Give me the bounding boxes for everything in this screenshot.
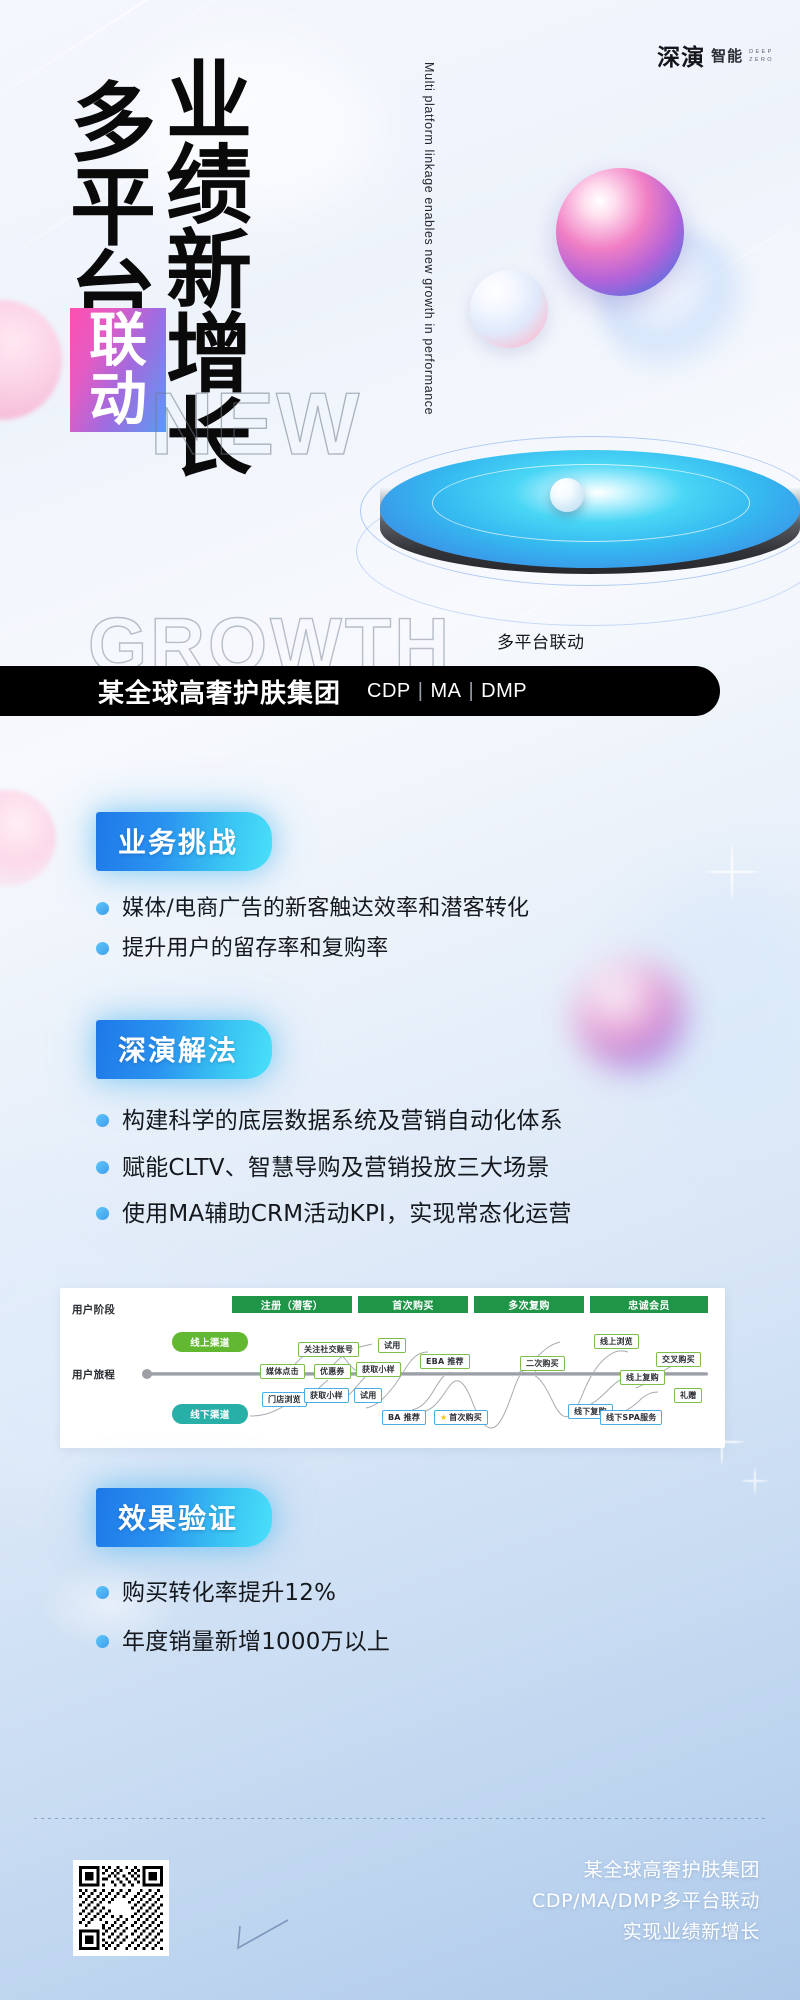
bullet-list-1: 媒体/电商广告的新客触达效率和潜客转化 提升用户的留存率和复购率	[96, 893, 529, 964]
headline-char-ping: 平	[70, 166, 156, 250]
section-heading-text-1: 业务挑战	[118, 826, 238, 859]
section-results: 效果验证 购买转化率提升12% 年度销量新增1000万以上	[96, 1488, 390, 1667]
section-heading-badge-1: 业务挑战	[96, 812, 272, 871]
bullet-text: 使用MA辅助CRM活动KPI，实现常态化运营	[122, 1198, 572, 1231]
headline-char-ji: 绩	[166, 144, 252, 228]
journey-node-coupon: 优惠券	[314, 1364, 351, 1379]
badge-char-lian: 联	[89, 311, 147, 370]
journey-node-eba-recommend: EBA 推荐	[420, 1354, 470, 1369]
poster-canvas: 深演 智能 DEEP ZERO 多 平 台 业 绩 新 增 长 联 动 Mult…	[0, 0, 800, 2000]
journey-node-sample-offline: 获取小样	[304, 1388, 349, 1403]
logo-text-cn-secondary: 智能	[711, 45, 743, 66]
badge-char-dong: 动	[89, 370, 147, 429]
journey-node-first-purchase: 首次购买	[434, 1410, 488, 1425]
logo-en-line2: ZERO	[749, 57, 774, 63]
tag-separator-2: |	[461, 680, 481, 702]
list-item: 媒体/电商广告的新客触达效率和潜客转化	[96, 893, 529, 924]
footer-line-3: 实现业绩新增长	[532, 1917, 760, 1948]
list-item: 构建科学的底层数据系统及营销自动化体系	[96, 1105, 572, 1138]
qr-code[interactable]	[73, 1860, 169, 1956]
bullet-text: 媒体/电商广告的新客触达效率和潜客转化	[122, 893, 529, 924]
band-subtitle: 多平台联动	[497, 628, 585, 653]
decorative-sphere-section	[575, 960, 685, 1070]
brand-logo: 深演 智能 DEEP ZERO	[657, 38, 774, 72]
bullet-text: 购买转化率提升12%	[122, 1577, 336, 1610]
journey-node-cross-purchase: 交叉购买	[656, 1352, 701, 1367]
tag-separator-1: |	[411, 680, 431, 702]
section-heading-badge-3: 效果验证	[96, 1488, 272, 1547]
logo-text-cn: 深演	[657, 38, 705, 72]
bullet-text: 构建科学的底层数据系统及营销自动化体系	[122, 1105, 563, 1138]
client-band: 某全球高奢护肤集团 CDP|MA|DMP	[0, 666, 720, 716]
bullet-text: 年度销量新增1000万以上	[122, 1626, 390, 1659]
section-heading-text-2: 深演解法	[118, 1034, 238, 1067]
customer-journey-diagram: 用户阶段 用户旅程 注册（潜客） 首次购买 多次复购 忠诚会员 线上渠道 线下渠…	[60, 1288, 725, 1448]
section-heading-text-3: 效果验证	[118, 1502, 238, 1535]
footer-divider	[34, 1818, 768, 1819]
bullet-dot-icon	[96, 902, 109, 915]
bullet-dot-icon	[96, 942, 109, 955]
client-name: 某全球高奢护肤集团	[98, 673, 341, 710]
tag-dmp: DMP	[481, 680, 527, 702]
product-tags: CDP|MA|DMP	[367, 680, 527, 703]
decorative-arrow-icon	[230, 1918, 290, 1956]
journey-node-online-repurchase: 线上复购	[620, 1370, 665, 1385]
list-item: 年度销量新增1000万以上	[96, 1626, 390, 1659]
bullet-list-2: 构建科学的底层数据系统及营销自动化体系 赋能CLTV、智慧导购及营销投放三大场景…	[96, 1105, 572, 1231]
decorative-sphere-small	[470, 270, 548, 348]
qr-code-image	[79, 1866, 163, 1950]
footer-summary: 某全球高奢护肤集团 CDP/MA/DMP多平台联动 实现业绩新增长	[532, 1855, 760, 1947]
headline-char-xin: 新	[166, 229, 252, 313]
headline-char-ye: 业	[166, 60, 252, 144]
list-item: 赋能CLTV、智慧导购及营销投放三大场景	[96, 1152, 572, 1185]
journey-node-sample-online: 获取小样	[356, 1362, 401, 1377]
journey-node-trial-online: 试用	[378, 1338, 406, 1353]
footer-line-1: 某全球高奢护肤集团	[532, 1855, 760, 1886]
bullet-dot-icon	[96, 1586, 109, 1599]
decorative-sphere-gradient	[556, 168, 684, 296]
journey-node-second-purchase: 二次购买	[520, 1356, 565, 1371]
list-item: 使用MA辅助CRM活动KPI，实现常态化运营	[96, 1198, 572, 1231]
journey-node-spa-service: 线下SPA服务	[600, 1410, 662, 1425]
bullet-list-3: 购买转化率提升12% 年度销量新增1000万以上	[96, 1577, 390, 1658]
headline-column-left: 多 平 台	[70, 82, 156, 335]
journey-node-gift: 礼赠	[674, 1388, 702, 1403]
hero-vertical-english: Multi platform linkage enables new growt…	[258, 62, 438, 415]
footer-line-2: CDP/MA/DMP多平台联动	[532, 1886, 760, 1917]
journey-node-online-browse: 线上浏览	[594, 1334, 639, 1349]
outline-text-new: NEW	[150, 380, 361, 468]
section-heading-badge-2: 深演解法	[96, 1020, 272, 1079]
bullet-dot-icon	[96, 1207, 109, 1220]
tag-cdp: CDP	[367, 680, 411, 702]
logo-text-en: DEEP ZERO	[749, 46, 774, 64]
bullet-dot-icon	[96, 1114, 109, 1127]
tag-ma: MA	[430, 680, 461, 702]
logo-en-line1: DEEP	[749, 49, 774, 55]
bullet-dot-icon	[96, 1161, 109, 1174]
journey-node-ba-recommend: BA 推荐	[382, 1410, 426, 1425]
journey-timeline-start-dot	[142, 1369, 152, 1379]
list-item: 提升用户的留存率和复购率	[96, 933, 529, 964]
section-business-challenge: 业务挑战 媒体/电商广告的新客触达效率和潜客转化 提升用户的留存率和复购率	[96, 812, 529, 973]
journey-node-media-click: 媒体点击	[260, 1364, 305, 1379]
headline-char-duo: 多	[70, 82, 156, 166]
journey-node-store-browse: 门店浏览	[262, 1392, 307, 1407]
list-item: 购买转化率提升12%	[96, 1577, 390, 1610]
journey-node-follow-social: 关注社交账号	[298, 1342, 359, 1357]
section-solution: 深演解法 构建科学的底层数据系统及营销自动化体系 赋能CLTV、智慧导购及营销投…	[96, 1020, 572, 1240]
journey-node-trial-offline: 试用	[354, 1388, 382, 1403]
bullet-text: 提升用户的留存率和复购率	[122, 933, 388, 964]
bullet-dot-icon	[96, 1635, 109, 1648]
bullet-text: 赋能CLTV、智慧导购及营销投放三大场景	[122, 1152, 550, 1185]
